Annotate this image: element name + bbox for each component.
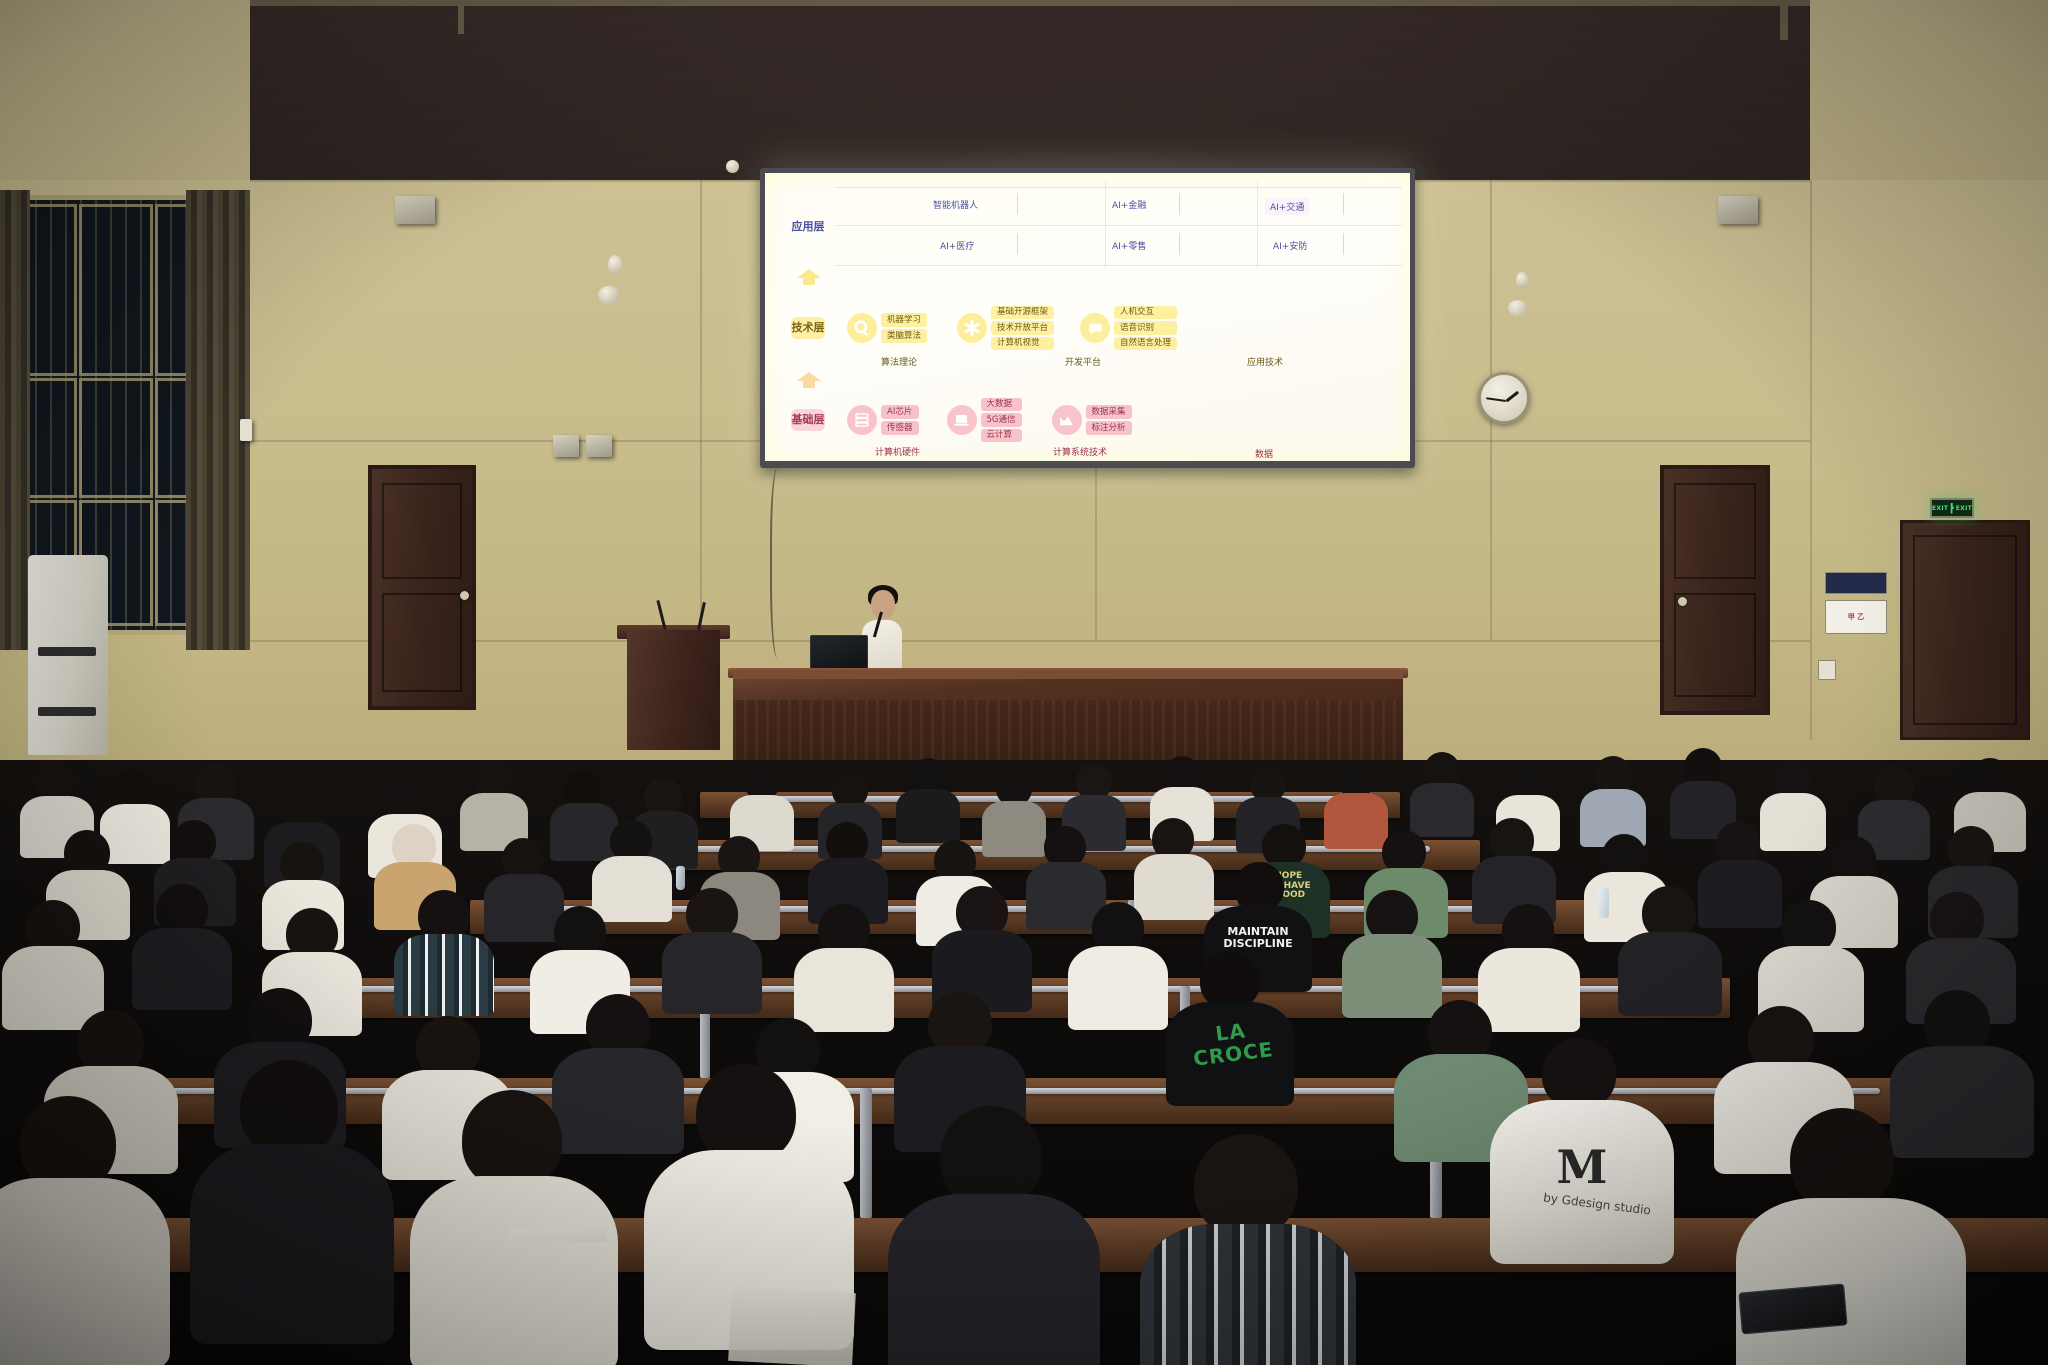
wall-fixture: [598, 286, 620, 304]
app-cell-3: AI+医疗: [940, 239, 974, 252]
tech-chip: 类脑算法: [881, 329, 927, 343]
app-cell-1: AI+金融: [1112, 198, 1146, 211]
base-chip: 5G通信: [981, 413, 1022, 427]
speaker-icon: [395, 196, 435, 224]
projection-screen: 应用层 智能机器人 AI+金融 AI+交通 AI+医疗 AI+零售 AI+安防: [765, 173, 1410, 461]
wall-fixture: [1516, 272, 1528, 288]
asterisk-icon: [957, 313, 987, 343]
tech-chip: 自然语言处理: [1114, 337, 1177, 351]
tech-chip: 人机交互: [1114, 306, 1177, 320]
podium: [627, 630, 720, 750]
app-cell-2: AI+交通: [1265, 198, 1309, 215]
server-icon: [847, 405, 877, 435]
chart-icon: [1052, 405, 1082, 435]
app-cell-4: AI+零售: [1112, 239, 1146, 252]
notice-board-bottom: 甲 乙: [1825, 600, 1887, 634]
base-group-label: 数据: [1255, 447, 1273, 460]
door-left[interactable]: [368, 465, 476, 710]
ceiling-left: [0, 0, 270, 185]
speech-icon: [1080, 313, 1110, 343]
tech-chip: 机器学习: [881, 313, 927, 327]
base-chip: 云计算: [981, 429, 1022, 443]
clock-hour-hand: [1505, 391, 1518, 402]
exit-sign: EXIT EXIT: [1930, 498, 1974, 518]
tech-chip: 语音识别: [1114, 321, 1177, 335]
layer-tag-application: 应用层: [791, 216, 825, 238]
door-right[interactable]: [1660, 465, 1770, 715]
ceiling-right: [1800, 0, 2048, 200]
notebook-page: [510, 1228, 606, 1242]
ceiling-trim: [250, 0, 1810, 6]
base-chip: 标注分析: [1086, 421, 1132, 435]
speaker-icon: [586, 435, 612, 457]
base-group-1: 大数据 5G通信 云计算: [947, 398, 1022, 443]
tech-chip: 技术开放平台: [991, 321, 1054, 335]
wall-fixture: [608, 255, 622, 275]
app-cell-5: AI+安防: [1273, 239, 1307, 252]
tech-group-0: 机器学习 类脑算法: [847, 313, 927, 343]
tech-group-2: 人机交互 语音识别 自然语言处理: [1080, 306, 1177, 351]
running-person-icon: [1950, 503, 1954, 514]
wall-plate: [1818, 660, 1836, 680]
arrow-up-icon: [797, 269, 821, 278]
ceiling-pipe: [458, 0, 464, 34]
base-chip: 数据采集: [1086, 405, 1132, 419]
ceiling-pipe: [1780, 0, 1788, 40]
wall-seam: [250, 640, 1810, 642]
water-bottle[interactable]: [1598, 888, 1609, 918]
layer-tag-technology: 技术层: [791, 317, 825, 339]
air-conditioner: [28, 555, 108, 755]
speaker-icon: [1718, 196, 1758, 224]
exit-sign-label-left: EXIT: [1932, 505, 1948, 512]
magnifier-icon: [847, 313, 877, 343]
laptop-icon: [947, 405, 977, 435]
app-cell-0: 智能机器人: [933, 198, 978, 211]
wall-switch[interactable]: [240, 419, 252, 441]
base-chip: 传感器: [881, 421, 919, 435]
presenter-head: [871, 590, 895, 619]
layer-tag-foundation: 基础层: [791, 409, 825, 431]
wall-clock: [1478, 372, 1530, 424]
lecture-hall-photo: EXIT EXIT 甲 乙 应用层 智能机器人 AI+金融 AI+交通: [0, 0, 2048, 1365]
base-group-0: AI芯片 传感器: [847, 405, 919, 435]
projector-cable: [770, 468, 788, 658]
tech-group-1: 基础开源框架 技术开放平台 计算机视觉: [957, 306, 1054, 351]
base-chip: AI芯片: [881, 405, 919, 419]
arrow-up-icon: [797, 372, 821, 381]
water-bottle[interactable]: [676, 866, 685, 890]
wall-seam: [700, 180, 702, 640]
bench-leg: [860, 1088, 872, 1218]
wall-seam: [1810, 180, 1812, 740]
tech-group-label: 开发平台: [1065, 355, 1101, 368]
notice-board-top: [1825, 572, 1887, 594]
base-group-label: 计算系统技术: [1053, 445, 1107, 458]
tech-chip: 计算机视觉: [991, 337, 1054, 351]
base-chip: 大数据: [981, 398, 1022, 412]
wall-sensor-icon: [726, 160, 739, 173]
notebook-page: [728, 1287, 856, 1365]
exit-sign-label-right: EXIT: [1956, 505, 1972, 512]
notice-text: 甲 乙: [1848, 612, 1864, 622]
base-group-2: 数据采集 标注分析: [1052, 405, 1132, 435]
slide-content: 应用层 智能机器人 AI+金融 AI+交通 AI+医疗 AI+零售 AI+安防: [765, 173, 1410, 461]
tech-group-label: 算法理论: [881, 355, 917, 368]
curtain: [0, 190, 30, 650]
clock-minute-hand: [1486, 397, 1506, 402]
speaker-icon: [553, 435, 579, 457]
base-group-label: 计算机硬件: [875, 445, 920, 458]
tech-group-label: 应用技术: [1247, 355, 1283, 368]
tech-chip: 基础开源框架: [991, 306, 1054, 320]
door-far-right[interactable]: [1900, 520, 2030, 740]
wall-fixture: [1508, 300, 1528, 316]
